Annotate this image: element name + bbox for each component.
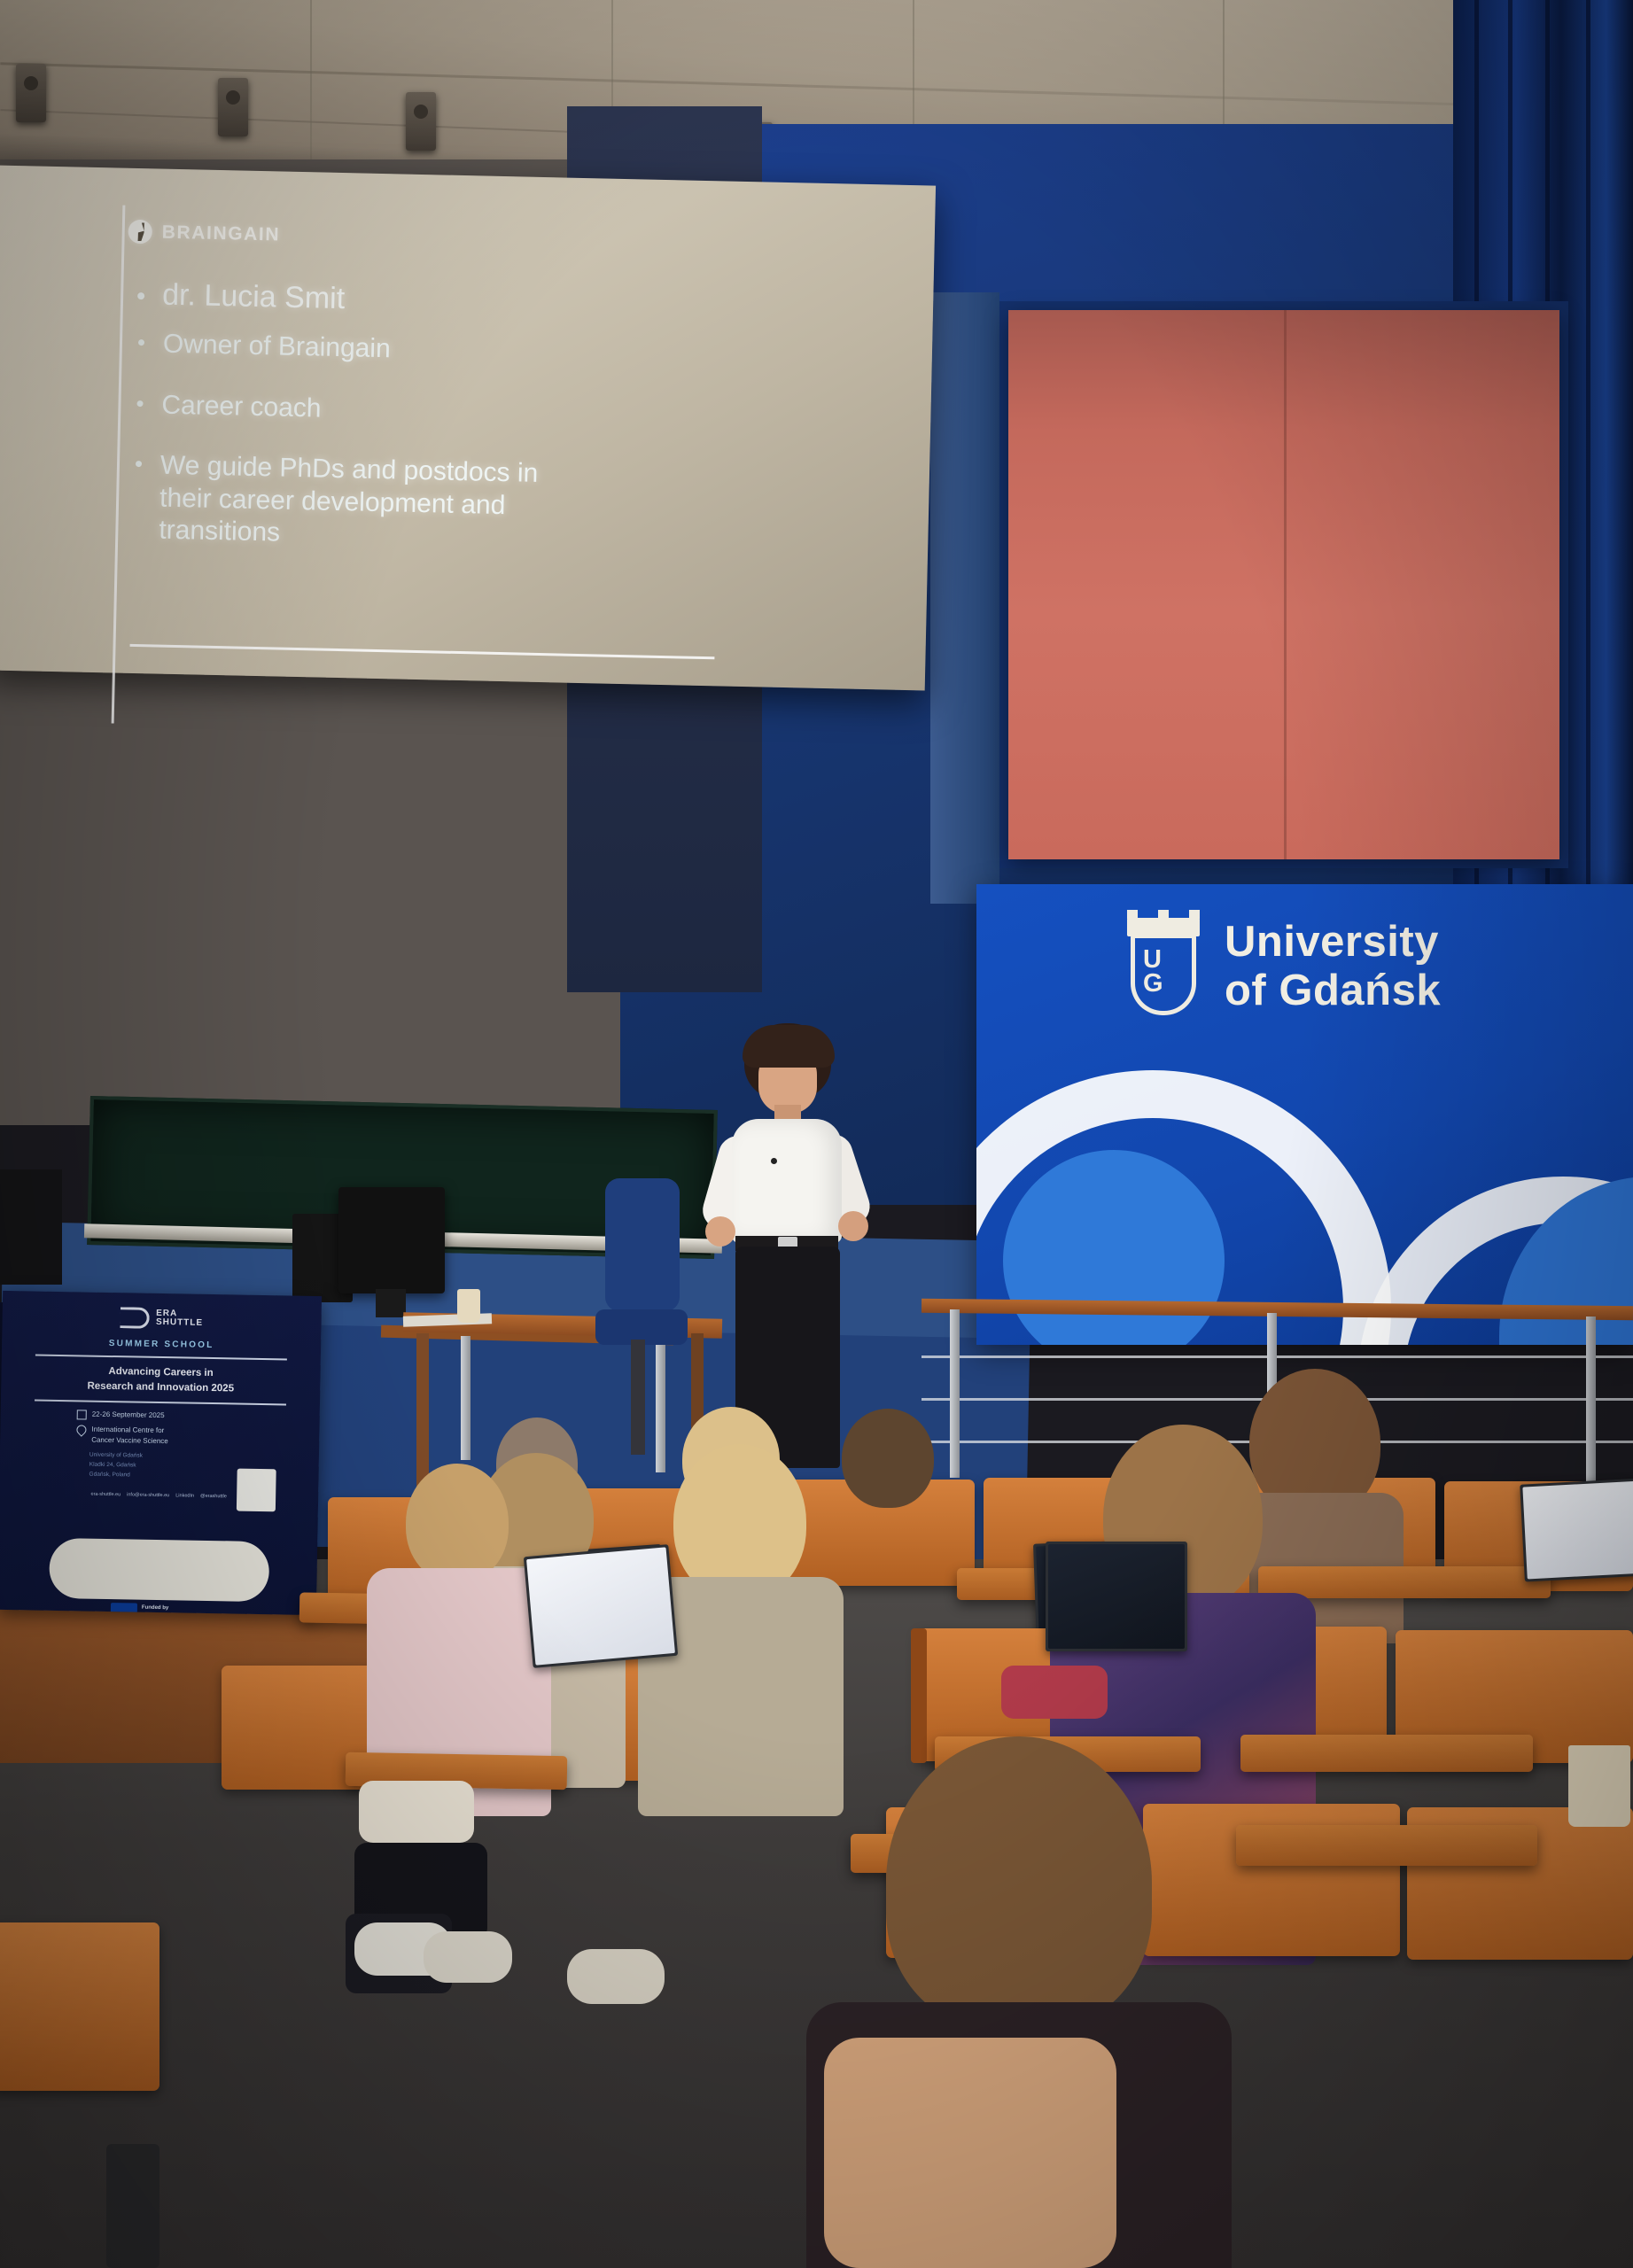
acoustic-panel-seam: [1284, 310, 1287, 859]
slide-sub-bullet: Career coach: [124, 388, 860, 437]
lectern-monitor: [338, 1187, 445, 1293]
braingain-circle-icon: [128, 220, 152, 245]
lecture-hall-photo: BRAINGAIN dr. Lucia Smit Owner of Braing…: [0, 0, 1633, 2268]
braingain-wordmark: BRAINGAIN: [161, 221, 280, 245]
university-name: University of Gdańsk: [1225, 918, 1441, 1015]
shoe: [567, 1949, 665, 2004]
university-name-line1: University: [1225, 918, 1441, 967]
poster-qr-card: [237, 1469, 276, 1512]
paper-cup: [457, 1289, 480, 1323]
poster-divider: [35, 1355, 287, 1361]
university-name-line2: of Gdańsk: [1225, 967, 1441, 1015]
office-chair-base: [631, 1340, 645, 1455]
ceiling-mount-icon: [16, 64, 46, 122]
presenter-hair: [743, 1025, 835, 1068]
jacket-on-seat: [359, 1781, 474, 1843]
rail-post: [950, 1309, 960, 1478]
era-shuttle-poster: ERA SHUTTLE SUMMER SCHOOL Advancing Care…: [0, 1291, 322, 1615]
presentation-slide: BRAINGAIN dr. Lucia Smit Owner of Braing…: [119, 220, 864, 687]
rail-post: [656, 1340, 665, 1472]
projection-screen-area: BRAINGAIN dr. Lucia Smit Owner of Braing…: [0, 166, 936, 691]
desk-shelf[interactable]: [1258, 1566, 1551, 1598]
wall-pillar: [930, 292, 999, 904]
desk-shelf[interactable]: [1236, 1825, 1537, 1866]
slide-divider: [130, 644, 715, 659]
slide-sub-bullet: Owner of Braingain: [126, 328, 862, 377]
laptop[interactable]: [524, 1544, 678, 1668]
audience-member-leg: [824, 2038, 1116, 2268]
poster-subtitle: SUMMER SCHOOL: [2, 1337, 321, 1352]
monitor-stand: [376, 1289, 406, 1317]
university-banner: U G University of Gdańsk: [976, 884, 1633, 1345]
university-logo: U G University of Gdańsk: [1125, 914, 1441, 1019]
shoe: [424, 1931, 512, 1983]
rail-post: [461, 1336, 470, 1460]
poster-details: 22-26 September 2025 International Centr…: [76, 1410, 320, 1450]
slide-sub-bullet: We guide PhDs and postdocs in their care…: [121, 449, 568, 556]
poster-link: era-shuttle.eu: [90, 1492, 121, 1498]
poster-sponsor-strip: [49, 1538, 269, 1602]
paper-cup[interactable]: [1568, 1745, 1630, 1827]
slide-sub-bullet-list: Owner of Braingain Career coach We guide…: [121, 328, 861, 563]
presenter-shirt: [732, 1119, 842, 1243]
slide-bullet-main: dr. Lucia Smit: [127, 277, 863, 328]
map-pin-icon: [74, 1424, 89, 1438]
university-crest-icon: U G: [1125, 914, 1201, 1019]
era-shuttle-icon: [121, 1307, 150, 1329]
seat-support: [106, 2144, 159, 2268]
crest-letter-top: U: [1143, 948, 1163, 972]
poster-divider: [35, 1400, 286, 1406]
lapel-mic-icon: [771, 1158, 777, 1164]
calendar-icon: [77, 1410, 87, 1420]
office-chair-back: [605, 1178, 680, 1311]
era-shuttle-logo: ERA SHUTTLE: [2, 1305, 321, 1332]
desk-shelf[interactable]: [1240, 1735, 1533, 1772]
crest-letter-bottom: G: [1143, 972, 1163, 996]
poster-link: info@era-shuttle.eu: [127, 1493, 169, 1499]
laptop[interactable]: [1046, 1542, 1187, 1651]
seat-divider: [911, 1628, 927, 1763]
poster-logo-secondary: SHUTTLE: [156, 1318, 203, 1328]
poster-link: @erashuttle: [200, 1494, 227, 1500]
ceiling-mount-icon: [406, 92, 436, 151]
rail-wire: [921, 1355, 1633, 1358]
ceiling-mount-icon: [218, 78, 248, 136]
rail-post: [1586, 1317, 1596, 1485]
side-cabinet: [0, 1169, 62, 1285]
seat-back-foreground[interactable]: [0, 1922, 159, 2091]
slide-bullet-list: dr. Lucia Smit: [127, 277, 863, 328]
poster-link: LinkedIn: [175, 1494, 194, 1499]
laptop[interactable]: [1520, 1478, 1633, 1581]
poster-date: 22-26 September 2025: [92, 1410, 165, 1421]
poster-location-line2: Cancer Vaccine Science: [91, 1435, 168, 1448]
red-bag: [1001, 1666, 1108, 1719]
